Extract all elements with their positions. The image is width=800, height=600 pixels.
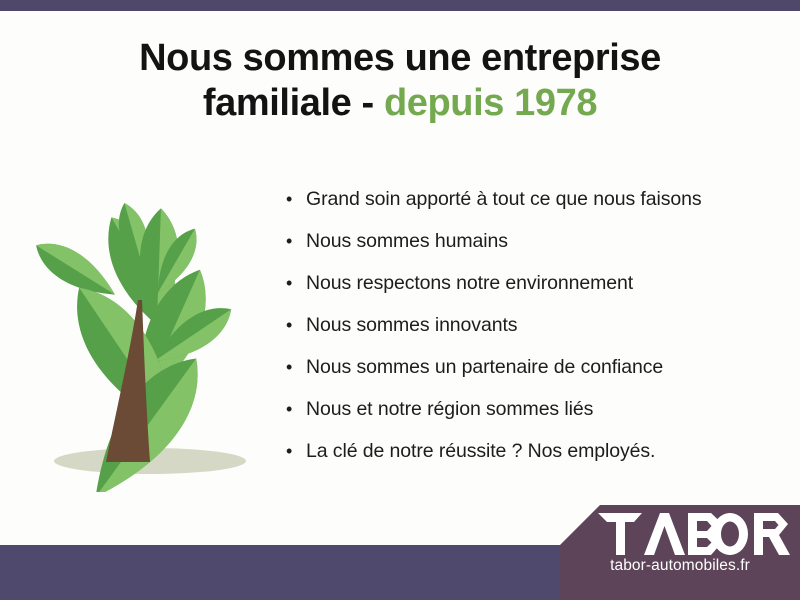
title-line-2: familiale - depuis 1978 [0,81,800,126]
list-item: • La clé de notre réussite ? Nos employé… [286,440,766,482]
brand-tagline: tabor-automobiles.fr [560,557,800,575]
list-item: • Nous respectons notre environnement [286,272,766,314]
bullet-marker-icon: • [286,400,306,418]
bullet-marker-icon: • [286,316,306,334]
list-item: • Nous et notre région sommes liés [286,398,766,440]
bullet-marker-icon: • [286,232,306,250]
bullet-marker-icon: • [286,274,306,292]
list-item: • Nous sommes humains [286,230,766,272]
page-title: Nous sommes une entreprise familiale - d… [0,36,800,126]
list-item-label: Nous et notre région sommes liés [306,398,593,421]
list-item: • Nous sommes innovants [286,314,766,356]
brand-logo-panel: tabor-automobiles.fr [560,505,800,600]
top-accent-bar [0,0,800,11]
tabor-wordmark-logo [598,513,790,555]
title-line-2-accent: depuis 1978 [384,82,597,124]
slide-canvas: Nous sommes une entreprise familiale - d… [0,0,800,600]
list-item-label: Grand soin apporté à tout ce que nous fa… [306,188,702,211]
bullet-marker-icon: • [286,190,306,208]
bullet-marker-icon: • [286,442,306,460]
value-bullet-list: • Grand soin apporté à tout ce que nous … [286,188,766,482]
list-item-label: Nous sommes humains [306,230,508,253]
tree-illustration [18,180,282,492]
title-line-2-black: familiale - [203,82,384,124]
list-item-label: La clé de notre réussite ? Nos employés. [306,440,655,463]
list-item: • Nous sommes un partenaire de confiance [286,356,766,398]
list-item-label: Nous sommes un partenaire de confiance [306,356,663,379]
list-item: • Grand soin apporté à tout ce que nous … [286,188,766,230]
list-item-label: Nous respectons notre environnement [306,272,633,295]
bullet-marker-icon: • [286,358,306,376]
list-item-label: Nous sommes innovants [306,314,517,337]
title-line-1: Nous sommes une entreprise [0,36,800,81]
